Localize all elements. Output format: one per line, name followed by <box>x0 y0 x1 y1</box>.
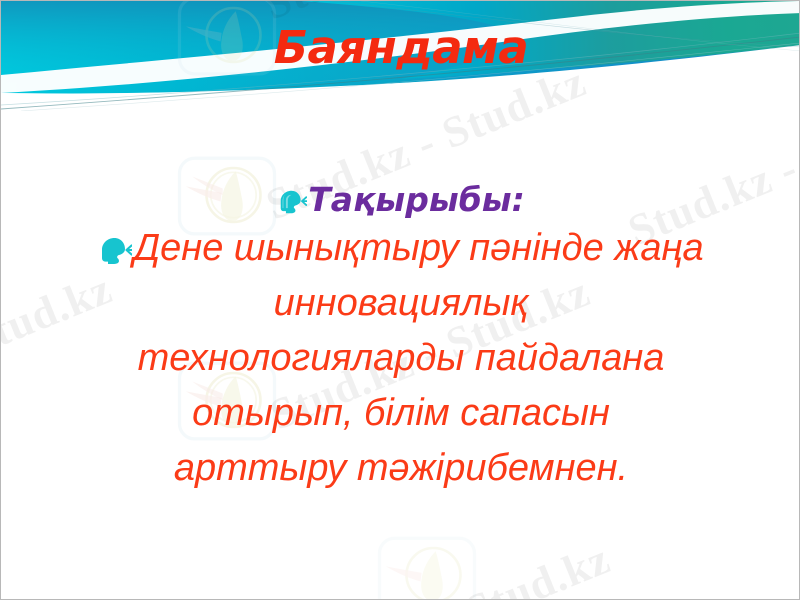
body-line-text: Дене шынықтыру пәнінде жаңа <box>133 227 703 269</box>
body-line: арттыру тәжірибемнен. <box>21 441 781 496</box>
subtitle-text: Тақырыбы: <box>308 180 525 219</box>
slide-content: Баяндама Тақырыбы: <box>1 1 800 600</box>
presentation-slide: Stud.kz - Stud.kz Stud.kz - Stud.kz Stud… <box>0 0 800 600</box>
body-line: технологияларды пайдалана <box>21 331 781 386</box>
speaking-head-icon <box>98 236 132 266</box>
body-line: инновациялық <box>21 276 781 331</box>
body-line: отырып, білім сапасын <box>21 386 781 441</box>
page-title: Баяндама <box>1 21 800 74</box>
body-line: Дене шынықтыру пәнінде жаңа <box>21 221 781 276</box>
subtitle-line: Тақырыбы: <box>21 179 781 221</box>
speaking-head-icon <box>277 189 307 215</box>
body-text-block: Тақырыбы: Дене шынықтыру пәнінде жаңа ин… <box>21 179 781 496</box>
